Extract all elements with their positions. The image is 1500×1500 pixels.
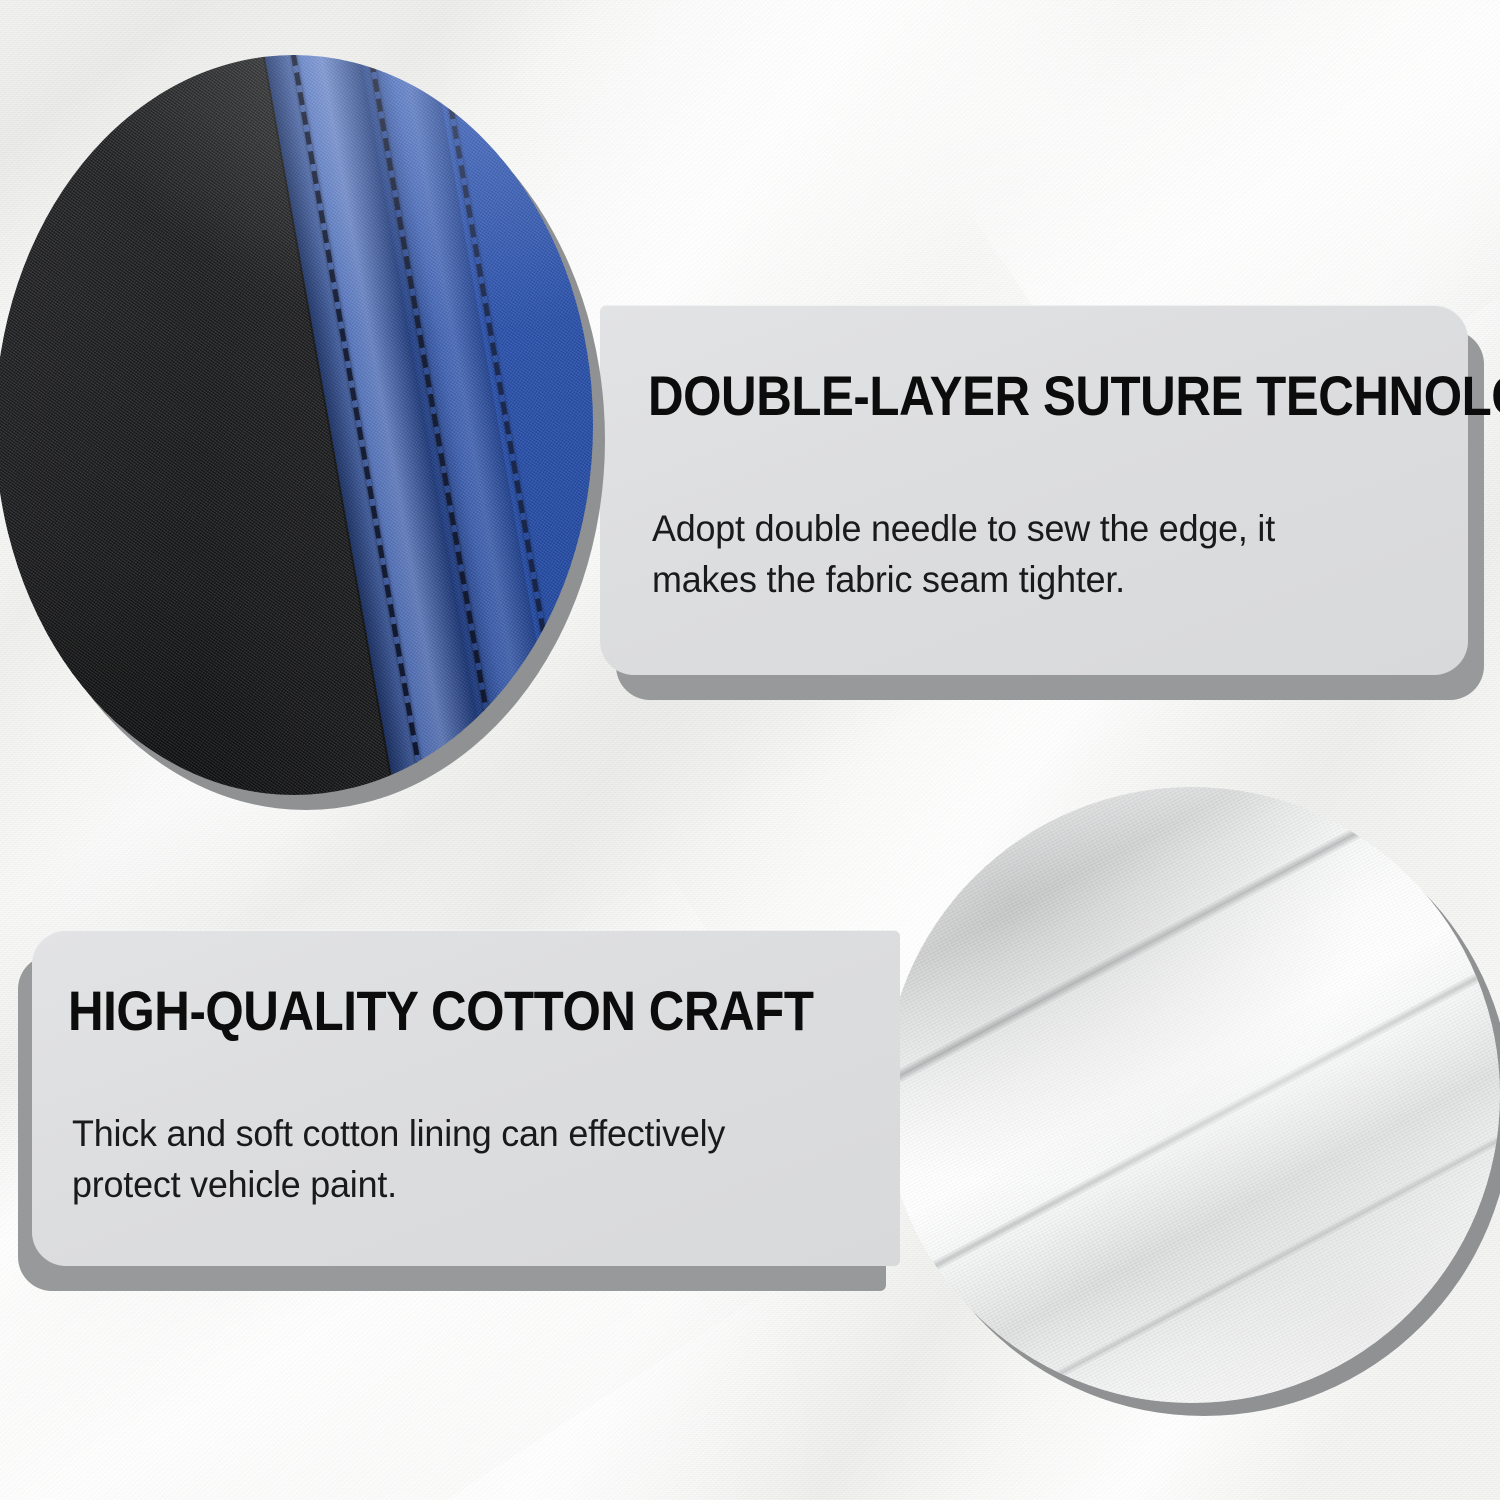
feature-card-cotton: HIGH-QUALITY COTTON CRAFT Thick and soft…	[32, 930, 900, 1266]
cotton-card-heading: HIGH-QUALITY COTTON CRAFT	[68, 982, 814, 1040]
cotton-photo-lighting	[884, 787, 1500, 1403]
cotton-photo-clip	[884, 787, 1500, 1403]
suture-card-body-line-1: Adopt double needle to sew the edge, it	[652, 503, 1418, 554]
feature-card-suture: DOUBLE-LAYER SUTURE TECHNOLOGY Adopt dou…	[600, 305, 1468, 675]
suture-card-heading: DOUBLE-LAYER SUTURE TECHNOLOGY	[648, 367, 1500, 425]
cotton-photo-circle	[884, 787, 1500, 1403]
suture-photo-circle	[0, 55, 593, 795]
suture-card-body-line-2: makes the fabric seam tighter.	[652, 554, 1418, 605]
suture-photo-lighting	[0, 55, 593, 795]
suture-photo-clip	[0, 55, 593, 795]
suture-fabric-surface	[0, 55, 593, 795]
suture-card-body: Adopt double needle to sew the edge, it …	[652, 503, 1418, 605]
cotton-card-body-line-2: protect vehicle paint.	[72, 1159, 858, 1210]
cotton-card-body: Thick and soft cotton lining can effecti…	[72, 1108, 858, 1210]
cotton-card-body-line-1: Thick and soft cotton lining can effecti…	[72, 1108, 858, 1159]
infographic-canvas: DOUBLE-LAYER SUTURE TECHNOLOGY Adopt dou…	[0, 0, 1500, 1500]
